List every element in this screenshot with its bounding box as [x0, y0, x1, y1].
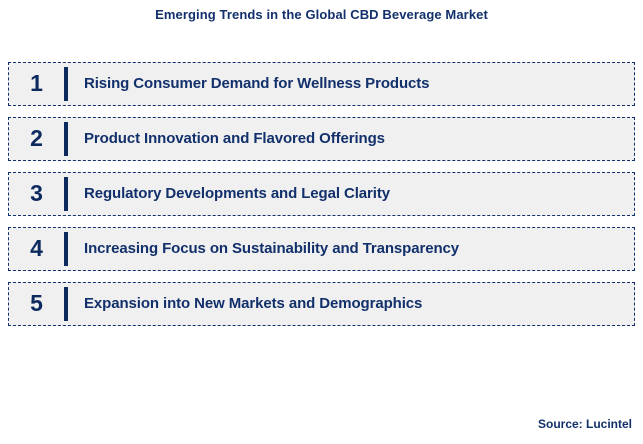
infographic-page: Emerging Trends in the Global CBD Bevera…	[0, 0, 643, 444]
trend-label: Increasing Focus on Sustainability and T…	[68, 240, 459, 258]
list-item: 4 Increasing Focus on Sustainability and…	[8, 227, 635, 271]
list-item: 1 Rising Consumer Demand for Wellness Pr…	[8, 62, 635, 106]
trend-label: Rising Consumer Demand for Wellness Prod…	[68, 75, 429, 93]
rank-number: 2	[9, 127, 64, 152]
source-note: Source: Lucintel	[538, 417, 632, 431]
rank-number: 4	[9, 237, 64, 262]
list-item: 2 Product Innovation and Flavored Offeri…	[8, 117, 635, 161]
rank-number: 3	[9, 182, 64, 207]
trend-list: 1 Rising Consumer Demand for Wellness Pr…	[8, 62, 635, 326]
page-title: Emerging Trends in the Global CBD Bevera…	[0, 6, 643, 24]
list-item: 3 Regulatory Developments and Legal Clar…	[8, 172, 635, 216]
trend-label: Regulatory Developments and Legal Clarit…	[68, 185, 390, 203]
trend-label: Expansion into New Markets and Demograph…	[68, 295, 422, 313]
rank-number: 5	[9, 292, 64, 317]
list-item: 5 Expansion into New Markets and Demogra…	[8, 282, 635, 326]
trend-label: Product Innovation and Flavored Offering…	[68, 130, 385, 148]
rank-number: 1	[9, 72, 64, 97]
